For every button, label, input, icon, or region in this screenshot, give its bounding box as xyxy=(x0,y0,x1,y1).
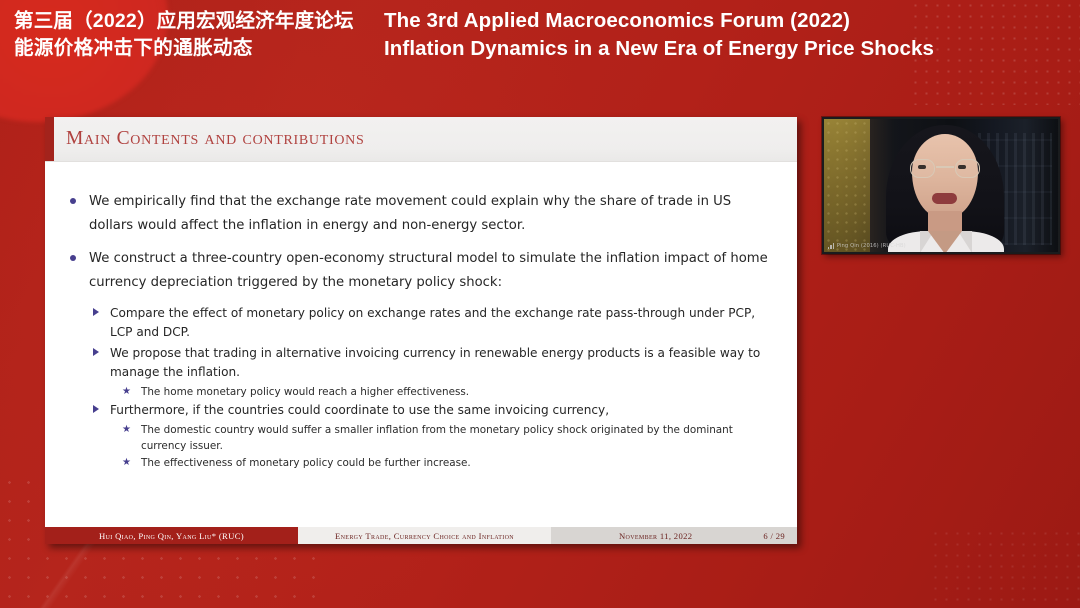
footer-date: November 11, 2022 xyxy=(619,531,692,541)
header-chinese-title: 第三届（2022）应用宏观经济年度论坛 能源价格冲击下的通胀动态 xyxy=(0,8,384,62)
bullet-dot-icon xyxy=(70,255,76,261)
bullet-star-icon: ★ xyxy=(122,421,131,438)
header-english-title: The 3rd Applied Macroeconomics Forum (20… xyxy=(384,7,1080,63)
bullet-item: We empirically find that the exchange ra… xyxy=(67,190,779,238)
bullet-item: We construct a three-country open-econom… xyxy=(67,247,779,295)
bullet-text: We propose that trading in alternative i… xyxy=(110,346,760,379)
webcam-wall-panel xyxy=(824,119,870,254)
microphone-level-icon xyxy=(828,243,834,249)
bullet-list-level-2: Compare the effect of monetary policy on… xyxy=(89,304,779,471)
slide-body: We empirically find that the exchange ra… xyxy=(45,162,797,522)
webcam-video-tile[interactable]: Ping Qin (2016) (RUC-HB) xyxy=(822,117,1060,254)
header-chinese-line-1: 第三届（2022）应用宏观经济年度论坛 xyxy=(14,8,384,35)
bullet-text: The home monetary policy would reach a h… xyxy=(141,386,469,398)
bullet-triangle-icon xyxy=(93,308,99,316)
footer-authors: Hui Qiao, Ping Qin, Yang Liu* (RUC) xyxy=(45,527,298,544)
bullet-item: ★ The effectiveness of monetary policy c… xyxy=(119,455,779,471)
bullet-text: We construct a three-country open-econom… xyxy=(89,251,768,290)
bullet-text: Compare the effect of monetary policy on… xyxy=(110,306,755,339)
speaker-collar xyxy=(928,231,962,254)
dot-pattern-bottom-right xyxy=(930,528,1080,608)
bullet-dot-icon xyxy=(70,198,76,204)
bullet-item: ★ The home monetary policy would reach a… xyxy=(119,384,779,400)
bullet-triangle-icon xyxy=(93,348,99,356)
bullet-text: We empirically find that the exchange ra… xyxy=(89,194,731,233)
bullet-list-level-1: We empirically find that the exchange ra… xyxy=(67,190,779,471)
bullet-star-icon: ★ xyxy=(122,383,131,400)
footer-page-number: 6 / 29 xyxy=(763,531,785,541)
slide-title-bar: Main Contents and contributions xyxy=(45,117,797,162)
slide-title: Main Contents and contributions xyxy=(66,128,364,150)
slide-panel[interactable]: Main Contents and contributions We empir… xyxy=(45,117,797,544)
bullet-list-level-3: ★ The domestic country would suffer a sm… xyxy=(119,422,779,471)
presentation-stage: 第三届（2022）应用宏观经济年度论坛 能源价格冲击下的通胀动态 The 3rd… xyxy=(0,0,1080,608)
footer-paper-title: Energy Trade, Currency Choice and Inflat… xyxy=(298,527,551,544)
bullet-item: Compare the effect of monetary policy on… xyxy=(89,304,779,342)
bullet-triangle-icon xyxy=(93,405,99,413)
bullet-text: Furthermore, if the countries could coor… xyxy=(110,403,609,417)
header-english-line-2: Inflation Dynamics in a New Era of Energ… xyxy=(384,35,1076,63)
bullet-text: The effectiveness of monetary policy cou… xyxy=(141,457,471,469)
bullet-item: We propose that trading in alternative i… xyxy=(89,344,779,382)
forum-header-banner: 第三届（2022）应用宏观经济年度论坛 能源价格冲击下的通胀动态 The 3rd… xyxy=(0,0,1080,70)
bullet-text: The domestic country would suffer a smal… xyxy=(141,424,733,452)
header-chinese-line-2: 能源价格冲击下的通胀动态 xyxy=(14,35,384,62)
bullet-list-level-3: ★ The home monetary policy would reach a… xyxy=(119,384,779,400)
glasses-lens-right xyxy=(955,159,980,178)
header-english-line-1: The 3rd Applied Macroeconomics Forum (20… xyxy=(384,7,1076,35)
bullet-star-icon: ★ xyxy=(122,454,131,471)
participant-name: Ping Qin (2016) (RUC-HB) xyxy=(837,243,906,249)
speaker-mouth xyxy=(932,193,957,204)
bullet-item: Furthermore, if the countries could coor… xyxy=(89,401,779,420)
footer-date-page: November 11, 2022 6 / 29 xyxy=(551,527,797,544)
speaker-glasses xyxy=(910,159,980,179)
glasses-bridge xyxy=(936,166,954,168)
bullet-item: ★ The domestic country would suffer a sm… xyxy=(119,422,779,454)
slide-footer: Hui Qiao, Ping Qin, Yang Liu* (RUC) Ener… xyxy=(45,527,797,544)
webcam-participant-label: Ping Qin (2016) (RUC-HB) xyxy=(828,243,906,249)
glasses-lens-left xyxy=(910,159,935,178)
